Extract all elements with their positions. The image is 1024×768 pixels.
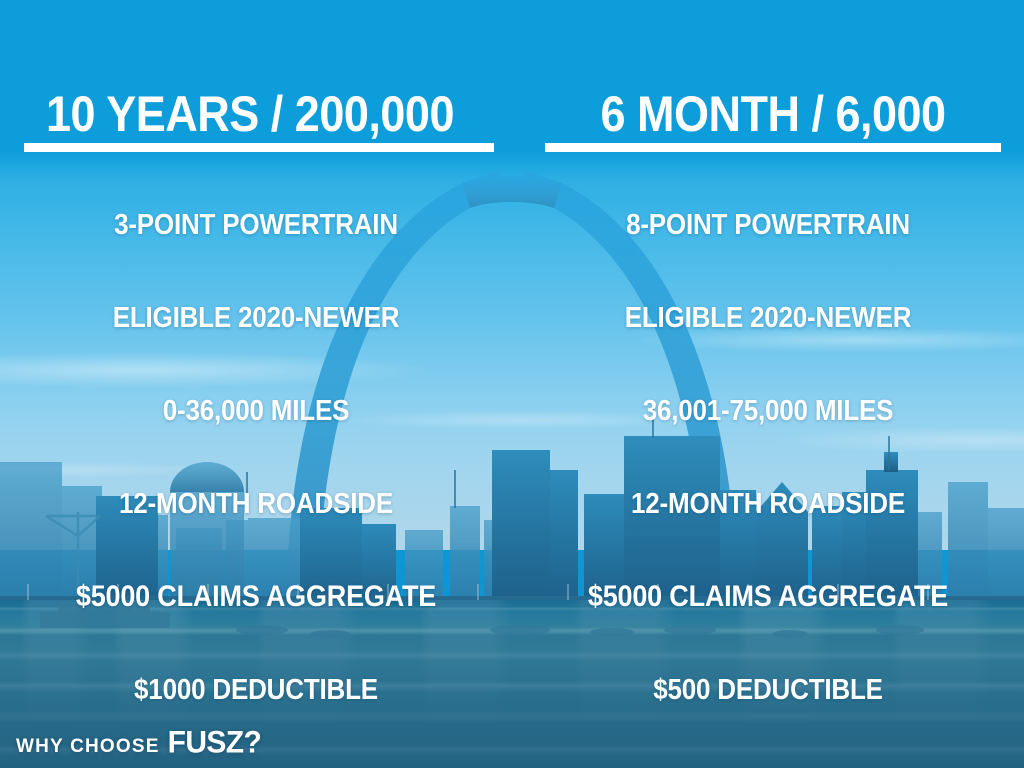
plan-left-heading: 10 YEARS / 200,000 — [0, 86, 512, 142]
list-item: 0-36,000 MILES — [0, 359, 512, 461]
list-item: 36,001-75,000 MILES — [512, 359, 1024, 461]
list-item: 12-MONTH ROADSIDE — [512, 452, 1024, 554]
comparison-content: 10 YEARS / 200,000 3-POINT POWERTRAIN EL… — [0, 0, 1024, 768]
plan-left-feature-list: 3-POINT POWERTRAIN ELIGIBLE 2020-NEWER 0… — [0, 178, 512, 736]
brand-prefix: WHY CHOOSE — [16, 736, 160, 758]
list-item: $5000 CLAIMS AGGREGATE — [512, 545, 1024, 647]
list-item: $500 DEDUCTIBLE — [512, 638, 1024, 740]
list-item: 12-MONTH ROADSIDE — [0, 452, 512, 554]
plan-right-feature-list: 8-POINT POWERTRAIN ELIGIBLE 2020-NEWER 3… — [512, 178, 1024, 736]
plan-column-left: 10 YEARS / 200,000 3-POINT POWERTRAIN EL… — [0, 0, 512, 768]
brand-lockup: WHY CHOOSE FUSZ? — [16, 726, 261, 760]
plan-right-heading: 6 MONTH / 6,000 — [512, 86, 1024, 142]
list-item: 3-POINT POWERTRAIN — [0, 173, 512, 275]
brand-name: FUSZ? — [168, 725, 262, 761]
list-item: ELIGIBLE 2020-NEWER — [0, 266, 512, 368]
list-item: $5000 CLAIMS AGGREGATE — [0, 545, 512, 647]
slide-canvas: 10 YEARS / 200,000 3-POINT POWERTRAIN EL… — [0, 0, 1024, 768]
list-item: ELIGIBLE 2020-NEWER — [512, 266, 1024, 368]
plan-left-heading-rule — [24, 143, 494, 152]
plan-column-right: 6 MONTH / 6,000 8-POINT POWERTRAIN ELIGI… — [512, 0, 1024, 768]
list-item: 8-POINT POWERTRAIN — [512, 173, 1024, 275]
plan-right-heading-rule — [545, 143, 1001, 152]
